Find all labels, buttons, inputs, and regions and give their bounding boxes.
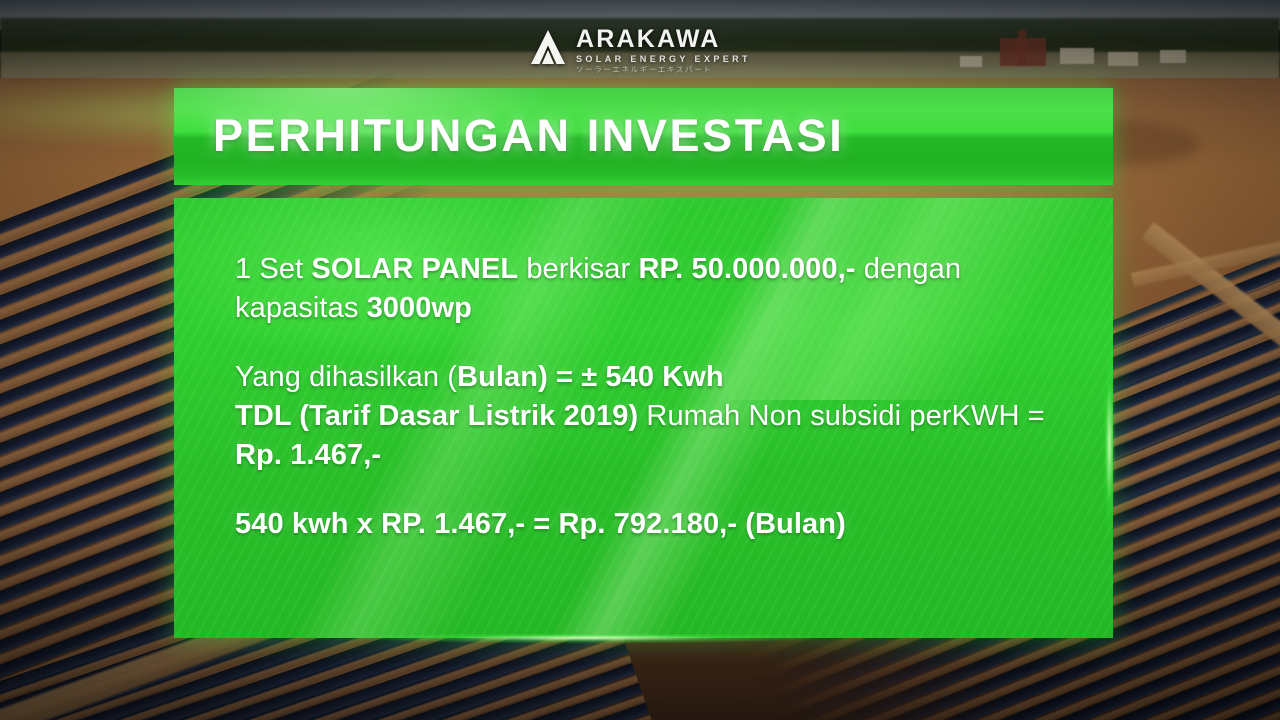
paragraph-panel-cost: 1 Set SOLAR PANEL berkisar RP. 50.000.00… <box>235 250 1065 328</box>
paragraph-monthly-total: 540 kwh x RP. 1.467,- = Rp. 792.180,- (B… <box>235 505 1065 544</box>
logo-name: ARAKAWA <box>576 27 751 52</box>
logo-wordmark: ARAKAWA SOLAR ENERGY EXPERT ソーラーエネルギーエキス… <box>576 26 751 74</box>
header-banner: PERHITUNGAN INVESTASI <box>174 88 1113 185</box>
investment-calculation-text: 1 Set SOLAR PANEL berkisar RP. 50.000.00… <box>235 250 1065 544</box>
logo-japanese-subtitle: ソーラーエネルギーエキスパート <box>576 66 751 74</box>
arakawa-logo: ARAKAWA SOLAR ENERGY EXPERT ソーラーエネルギーエキス… <box>528 26 774 74</box>
page-title: PERHITUNGAN INVESTASI <box>213 113 844 158</box>
logo-subtitle: SOLAR ENERGY EXPERT <box>576 55 751 64</box>
paragraph-output-tariff: Yang dihasilkan (Bulan) = ± 540 KwhTDL (… <box>235 358 1065 475</box>
slide-stage: ARAKAWA SOLAR ENERGY EXPERT ソーラーエネルギーエキス… <box>0 0 1280 720</box>
mountain-triangle-icon <box>528 27 568 67</box>
